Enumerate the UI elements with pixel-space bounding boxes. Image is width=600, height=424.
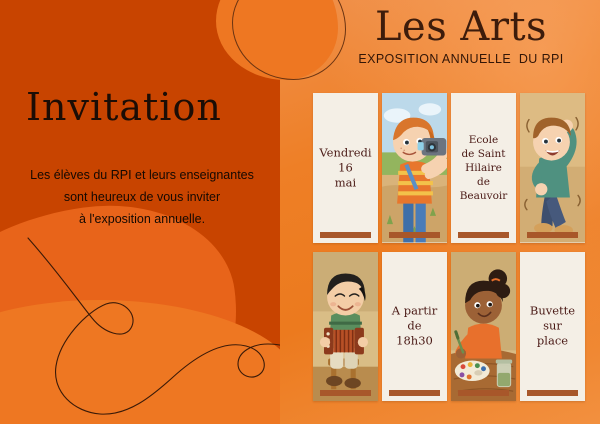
card-date: Vendredi 16 mai — [313, 93, 378, 243]
card-bottom-bar — [527, 390, 578, 396]
painting-girl-illustration — [451, 252, 516, 402]
card-line: de Saint — [454, 147, 513, 161]
dancing-boy-illustration — [520, 93, 585, 243]
poster-subtitle: EXPOSITION ANNUELLE DU RPI — [330, 52, 592, 66]
invitation-poster: Les Arts EXPOSITION ANNUELLE DU RPI Invi… — [0, 0, 600, 424]
card-bottom-bar — [320, 232, 371, 238]
card-line: Ecole — [454, 133, 513, 147]
card-bottom-bar — [458, 390, 509, 396]
card-school-text: Ecole de Saint Hilaire de Beauvoir — [451, 133, 516, 203]
card-line: Vendredi — [316, 145, 375, 160]
card-illustration-camera-girl — [382, 93, 447, 243]
card-grid: Vendredi 16 mai — [313, 93, 585, 401]
invitation-body-line: Les élèves du RPI et leurs enseignantes — [6, 164, 278, 186]
card-bottom-bar — [527, 232, 578, 238]
card-line: de — [385, 319, 444, 334]
accordion-boy-illustration — [313, 252, 378, 402]
card-line: 18h30 — [385, 334, 444, 349]
invitation-body-line: à l'exposition annuelle. — [6, 208, 278, 230]
card-line: Hilaire — [454, 161, 513, 175]
card-line: place — [523, 334, 582, 349]
card-time-text: A partir de 18h30 — [382, 304, 447, 349]
card-refreshments: Buvette sur place — [520, 252, 585, 402]
camera-girl-illustration — [382, 93, 447, 243]
card-refreshments-text: Buvette sur place — [520, 304, 585, 349]
card-illustration-painting-girl — [451, 252, 516, 402]
card-bottom-bar — [458, 232, 509, 238]
card-bottom-bar — [389, 390, 440, 396]
card-line: mai — [316, 175, 375, 190]
card-line: de — [454, 175, 513, 189]
card-line: Buvette — [523, 304, 582, 319]
card-line: A partir — [385, 304, 444, 319]
card-time: A partir de 18h30 — [382, 252, 447, 402]
card-date-text: Vendredi 16 mai — [313, 145, 378, 190]
card-line: 16 — [316, 160, 375, 175]
card-line: Beauvoir — [454, 189, 513, 203]
decorative-swirl-line — [0, 236, 300, 424]
card-bottom-bar — [389, 232, 440, 238]
poster-title: Les Arts — [330, 4, 592, 50]
card-line: sur — [523, 319, 582, 334]
invitation-body: Les élèves du RPI et leurs enseignantes … — [6, 164, 278, 230]
card-illustration-dancing-boy — [520, 93, 585, 243]
card-school: Ecole de Saint Hilaire de Beauvoir — [451, 93, 516, 243]
card-illustration-accordion-boy — [313, 252, 378, 402]
invitation-body-line: sont heureux de vous inviter — [6, 186, 278, 208]
card-bottom-bar — [320, 390, 371, 396]
invitation-heading: Invitation — [26, 84, 222, 130]
poster-header: Les Arts EXPOSITION ANNUELLE DU RPI — [330, 4, 592, 66]
